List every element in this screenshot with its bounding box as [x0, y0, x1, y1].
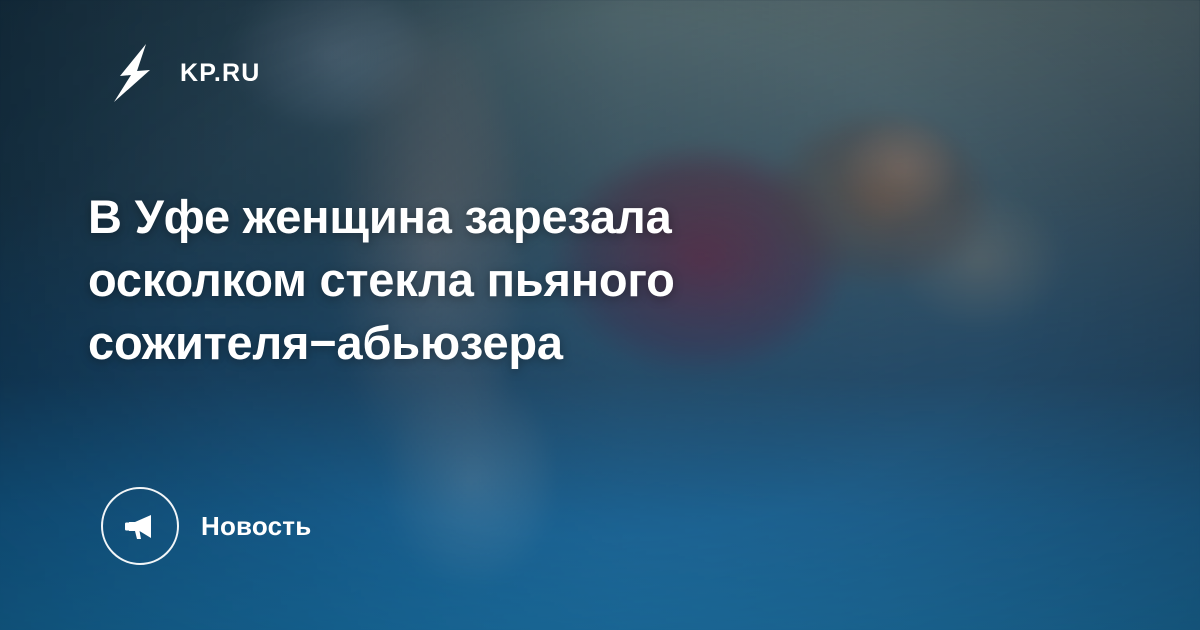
content-type-label: Новость: [101, 487, 311, 565]
brand-lockup[interactable]: KP.RU: [106, 42, 261, 104]
page-title: В Уфе женщина зарезала осколком стекла п…: [88, 186, 888, 375]
megaphone-icon: [101, 487, 179, 565]
brand-name: KP.RU: [180, 59, 261, 88]
bird-logo-icon: [106, 42, 164, 104]
content-type-text: Новость: [201, 511, 311, 542]
card-content: KP.RU В Уфе женщина зарезала осколком ст…: [0, 0, 1200, 630]
social-share-card: KP.RU В Уфе женщина зарезала осколком ст…: [0, 0, 1200, 630]
